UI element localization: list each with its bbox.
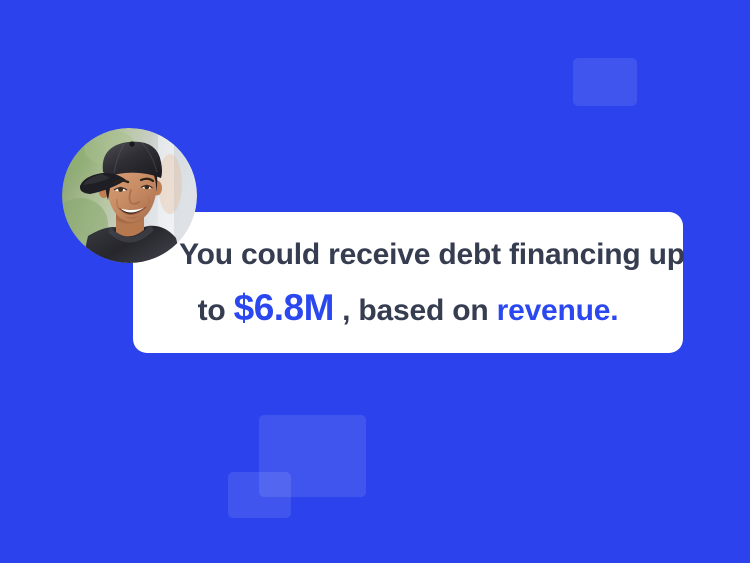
- offer-amount: $6.8M: [234, 287, 334, 328]
- promo-banner: You could receive debt financing up to $…: [0, 0, 750, 563]
- offer-headline-line-1: You could receive debt financing up: [131, 240, 685, 270]
- user-photo-avatar: [62, 128, 197, 263]
- offer-headline-line-2: to $6.8M , based on revenue.: [198, 289, 619, 326]
- decorative-square-bottom-small: [228, 472, 291, 518]
- decorative-square-top-right: [573, 58, 637, 106]
- offer-basis: revenue.: [497, 294, 619, 327]
- offer-prefix: to: [198, 294, 234, 327]
- offer-card: You could receive debt financing up to $…: [133, 212, 683, 353]
- offer-middle: , based on: [334, 294, 497, 327]
- avatar: [62, 128, 197, 263]
